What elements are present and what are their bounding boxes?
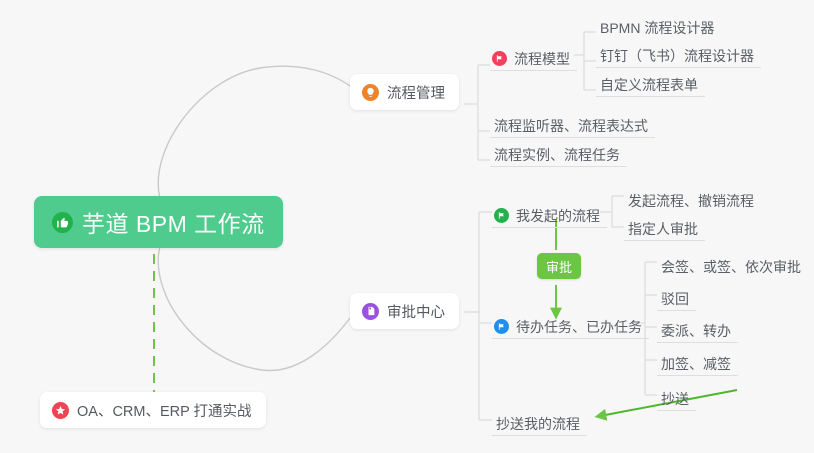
branch-process-management[interactable]: 流程管理 — [350, 74, 459, 110]
node-label: 抄送 — [661, 392, 689, 406]
node-delegate-transfer[interactable]: 委派、转办 — [657, 313, 738, 343]
node-label: 流程实例、流程任务 — [494, 148, 620, 162]
node-label: 我发起的流程 — [516, 209, 600, 223]
node-my-initiated-process[interactable]: 我发起的流程 — [492, 198, 607, 228]
edge-root-to-approval-center — [158, 246, 350, 371]
node-cc-to-me-process[interactable]: 抄送我的流程 — [492, 406, 587, 436]
node-label: 加签、减签 — [661, 357, 731, 371]
node-custom-process-form[interactable]: 自定义流程表单 — [596, 67, 705, 97]
mindmap-canvas: 芋道 BPM 工作流 流程管理 流程模型 BPMN 流程设计器 钉钉（飞书）流程… — [0, 0, 814, 453]
node-label: 自定义流程表单 — [600, 78, 698, 92]
annotation-label: OA、CRM、ERP 打通实战 — [77, 400, 252, 421]
node-label: BPMN 流程设计器 — [600, 21, 714, 35]
star-icon — [52, 402, 69, 419]
node-label: 指定人审批 — [628, 222, 698, 236]
branch-label: 流程管理 — [387, 82, 445, 103]
node-process-listener-expression[interactable]: 流程监听器、流程表达式 — [490, 108, 655, 138]
node-todo-done-tasks[interactable]: 待办任务、已办任务 — [492, 309, 649, 339]
edge-root-to-process-management — [158, 66, 350, 198]
node-process-instance-task[interactable]: 流程实例、流程任务 — [490, 137, 627, 167]
flag-icon-green — [494, 208, 509, 223]
node-bpmn-designer[interactable]: BPMN 流程设计器 — [596, 9, 721, 39]
flag-icon-red — [492, 51, 507, 66]
node-cc[interactable]: 抄送 — [657, 381, 696, 411]
node-start-cancel-process[interactable]: 发起流程、撤销流程 — [624, 182, 761, 212]
node-label: 发起流程、撤销流程 — [628, 194, 754, 208]
node-process-model[interactable]: 流程模型 — [490, 41, 577, 71]
node-label: 流程模型 — [514, 52, 570, 66]
node-label: 委派、转办 — [661, 324, 731, 338]
annotation-approval-pill[interactable]: 审批 — [537, 253, 581, 279]
node-label: 会签、或签、依次审批 — [661, 260, 801, 274]
document-icon — [362, 303, 379, 320]
lightbulb-icon — [362, 84, 379, 101]
flag-icon-blue — [494, 319, 509, 334]
node-countersign-or-sequential[interactable]: 会签、或签、依次审批 — [657, 248, 808, 278]
node-dingtalk-feishu-designer[interactable]: 钉钉（飞书）流程设计器 — [596, 38, 761, 68]
branch-label: 审批中心 — [387, 301, 445, 322]
annotation-integration-node[interactable]: OA、CRM、ERP 打通实战 — [40, 392, 266, 428]
node-label: 待办任务、已办任务 — [516, 320, 642, 334]
node-reject[interactable]: 驳回 — [657, 281, 696, 311]
node-label: 流程监听器、流程表达式 — [494, 119, 648, 133]
node-label: 钉钉（飞书）流程设计器 — [600, 49, 754, 63]
node-assignee-approval[interactable]: 指定人审批 — [624, 211, 705, 241]
node-label: 驳回 — [661, 292, 689, 306]
root-node[interactable]: 芋道 BPM 工作流 — [34, 196, 283, 248]
annotation-label: 审批 — [546, 257, 572, 276]
node-label: 抄送我的流程 — [496, 417, 580, 431]
thumbs-up-icon — [52, 212, 73, 233]
branch-approval-center[interactable]: 审批中心 — [350, 293, 459, 329]
root-label: 芋道 BPM 工作流 — [82, 205, 265, 239]
node-add-remove-sign[interactable]: 加签、减签 — [657, 346, 738, 376]
